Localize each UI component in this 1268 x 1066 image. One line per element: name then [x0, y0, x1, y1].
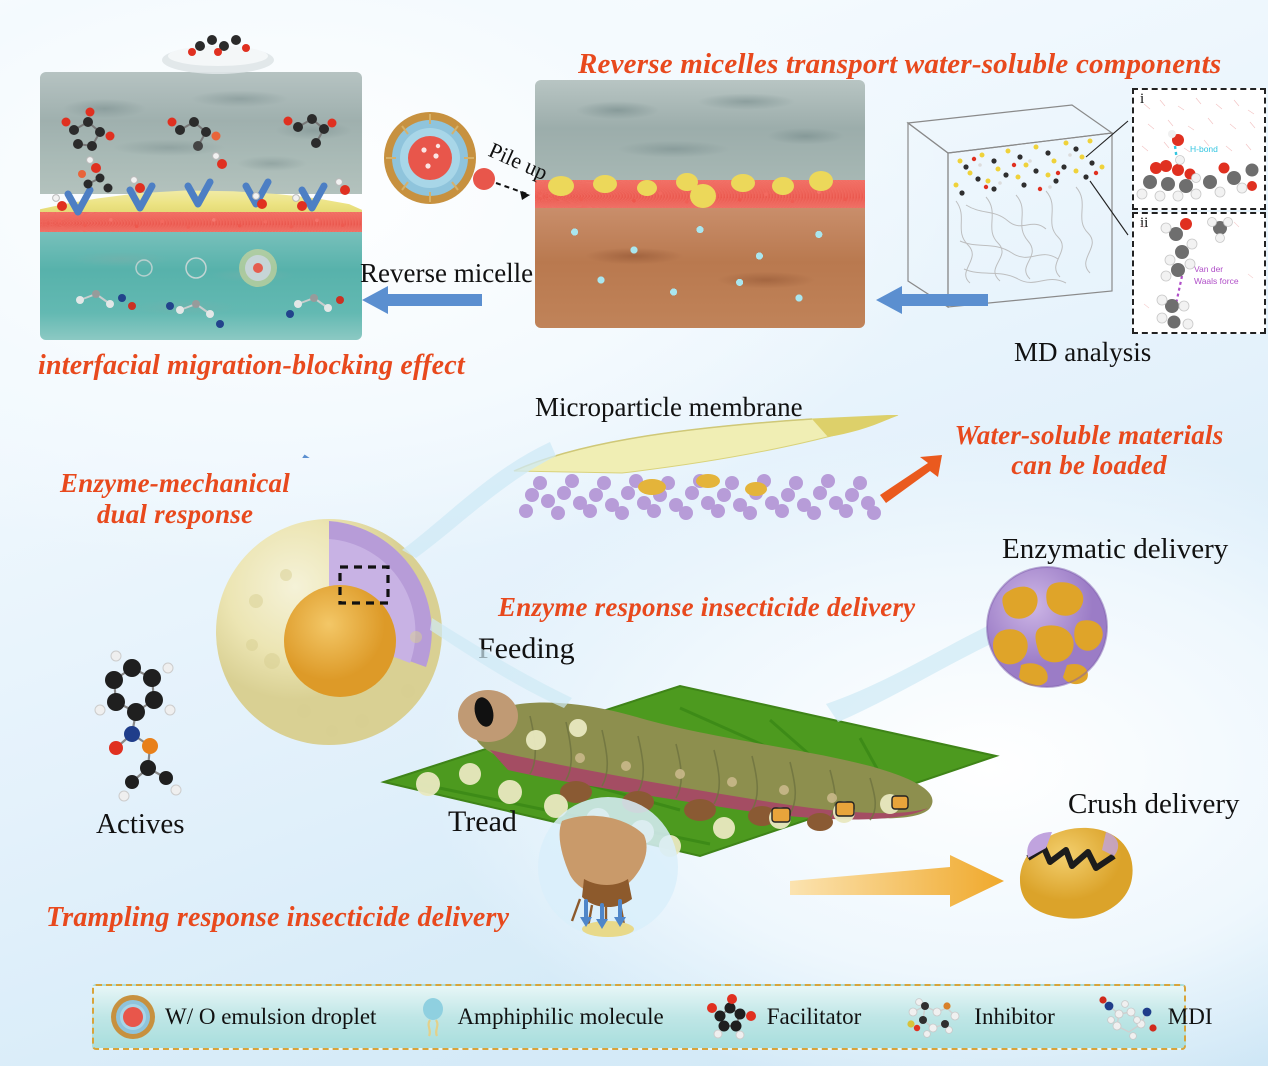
brown-bottom-layer	[535, 208, 865, 328]
md-inset-ii: ii Van der Waals force	[1132, 212, 1266, 334]
heading-trampling-response: Trampling response insecticide delivery	[46, 902, 509, 934]
legend-item-inhibitor: Inhibitor	[903, 994, 1055, 1040]
wo-emulsion-droplet-icon	[110, 994, 156, 1040]
facilitator-molecules-icon	[40, 72, 362, 340]
legend-label-amphiphilic-molecule: Amphiphilic molecule	[457, 1004, 663, 1030]
legend-item-facilitator: Facilitator	[706, 994, 862, 1040]
right-flow-arrow-icon	[876, 280, 996, 320]
enzymatic-degraded-capsule	[985, 565, 1110, 690]
legend-label-wo-emulsion-droplet: W/ O emulsion droplet	[165, 1004, 376, 1030]
enzyme-mechanical-line1: Enzyme-mechanical	[30, 468, 320, 499]
crush-delivery-label: Crush delivery	[1068, 788, 1240, 821]
applicator-dish-icon	[158, 30, 278, 82]
tread-zoom-bubble	[528, 795, 688, 945]
legend-item-wo-emulsion-droplet: W/ O emulsion droplet	[110, 994, 376, 1040]
water-soluble-line1: Water-soluble materials	[924, 420, 1254, 450]
legend-label-inhibitor: Inhibitor	[974, 1004, 1055, 1030]
md-inset-i: i H-bond	[1132, 88, 1266, 210]
interfacial-migration-block-diagram	[40, 72, 362, 340]
capsule-to-membrane-connector	[400, 430, 560, 560]
mdi-molecule-icon	[1097, 994, 1159, 1040]
vdw-annotation-line2: Waals force	[1194, 276, 1239, 286]
heading-reverse-micelles: Reverse micelles transport water-soluble…	[578, 48, 1221, 81]
water-soluble-line2: can be loaded	[924, 450, 1254, 480]
reverse-micelle-sphere-icon	[382, 110, 478, 206]
legend-label-facilitator: Facilitator	[767, 1004, 862, 1030]
vdw-annotation-line1: Van der	[1194, 264, 1223, 274]
left-flow-arrow-icon	[362, 280, 492, 320]
facilitator-molecule-icon	[706, 994, 758, 1040]
crush-flow-arrow-icon	[790, 855, 1020, 925]
md-analysis-label: MD analysis	[1014, 337, 1151, 368]
md-inset-panels: i H-bond	[1132, 88, 1264, 336]
amphiphilic-molecule-icon	[418, 994, 448, 1040]
legend-label-mdi: MDI	[1168, 1004, 1213, 1030]
crushed-capsule-illustration	[1010, 820, 1140, 925]
hbond-annotation: H-bond	[1190, 144, 1218, 154]
inhibitor-molecule-icon	[903, 994, 965, 1040]
legend-item-amphiphilic-molecule: Amphiphilic molecule	[418, 994, 663, 1040]
tread-label: Tread	[448, 805, 517, 839]
heading-water-soluble-loaded: Water-soluble materials can be loaded	[924, 420, 1254, 480]
capsule-to-leaf-connector	[430, 600, 580, 710]
enzymatic-delivery-label: Enzymatic delivery	[1002, 533, 1228, 566]
actives-molecule-icon	[76, 640, 206, 805]
legend-bar: W/ O emulsion droplet Amphiphilic molecu…	[92, 984, 1186, 1050]
reverse-micelle-transport-diagram	[535, 80, 865, 328]
actives-label: Actives	[96, 808, 185, 841]
microparticle-membrane-illustration	[512, 415, 902, 535]
graphical-abstract-figure: Pile up Reverse micelle	[0, 0, 1268, 1066]
legend-item-mdi: MDI	[1097, 994, 1213, 1040]
